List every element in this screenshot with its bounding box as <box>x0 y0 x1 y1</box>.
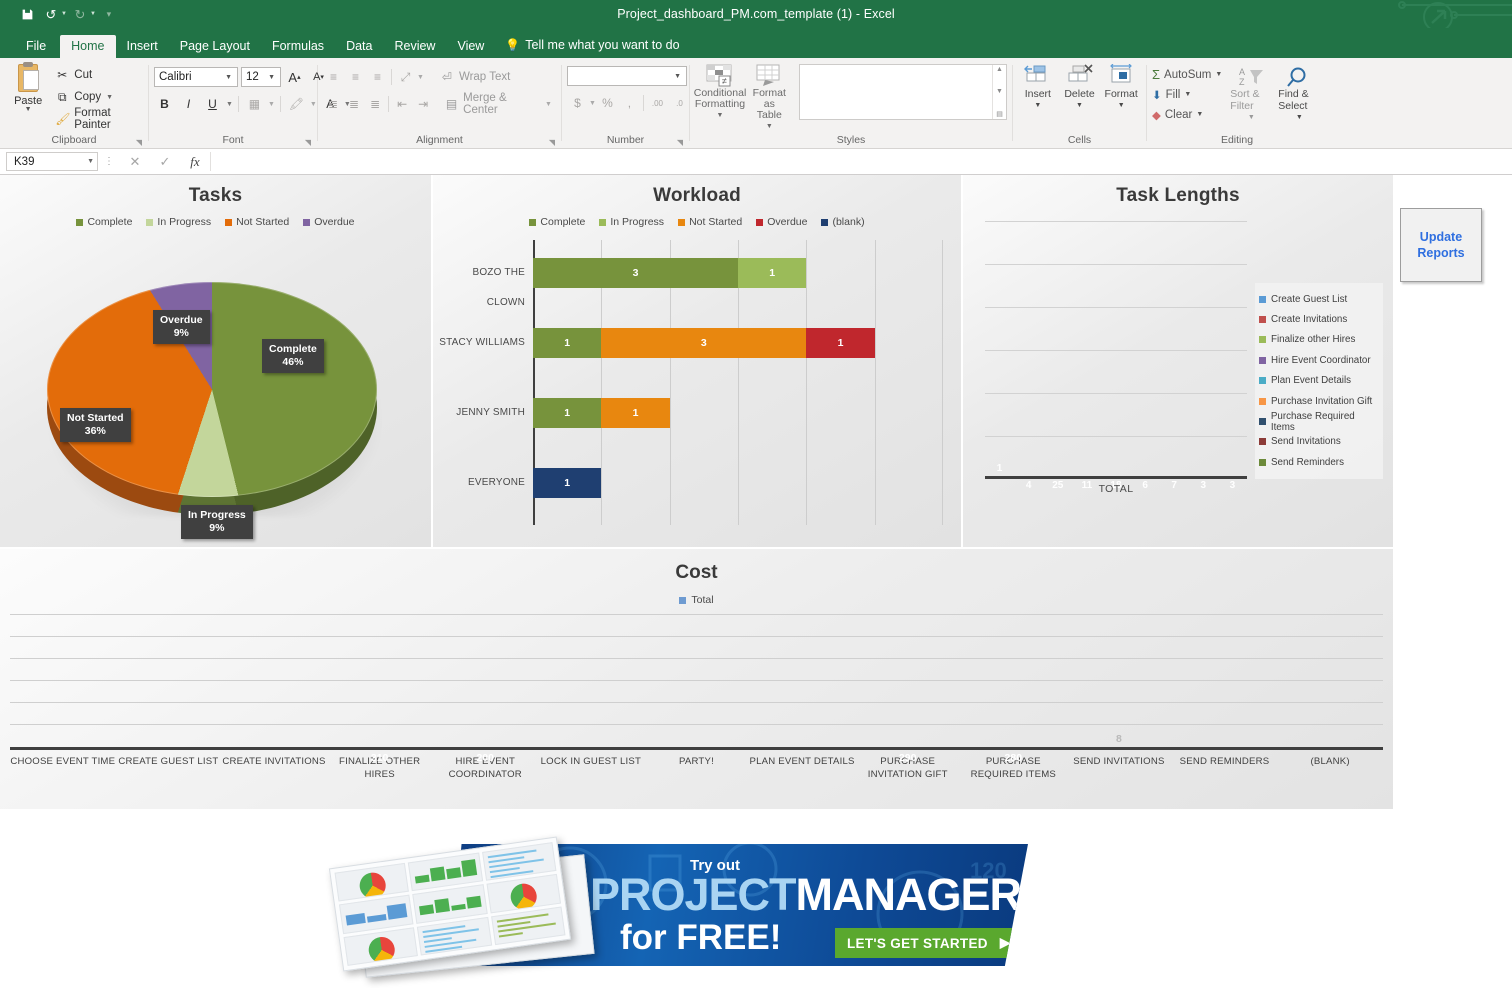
clear-button[interactable]: ◆ Clear ▼ <box>1152 105 1222 124</box>
ad-brand-project: PROJECT <box>590 869 796 920</box>
tasks-legend: Complete In Progress Not Started Overdue <box>0 216 431 228</box>
name-box-value: K39 <box>14 156 34 168</box>
workload-bars: BOZO THE CLOWN 3 1 STACY WILLIAMS 1 3 1 … <box>533 240 943 525</box>
cut-label: Cut <box>74 69 92 81</box>
legend-label: Plan Event Details <box>1271 375 1351 386</box>
font-name-input[interactable]: Calibri ▼ <box>154 67 238 87</box>
legend-item-purchase-required-items: Purchase Required Items <box>1259 411 1379 431</box>
task-lengths-axis <box>985 476 1247 479</box>
workload-segment-blank: 1 <box>533 468 601 498</box>
legend-item-not-started: Not Started <box>225 216 289 228</box>
eraser-icon: ◆ <box>1152 108 1161 122</box>
legend-item-create-guest-list: Create Guest List <box>1259 289 1379 309</box>
underline-button[interactable]: U <box>202 94 223 114</box>
cell-styles-scrollbar[interactable]: ▲ ▼ ▤ <box>992 65 1006 119</box>
workload-segment-in-progress: 1 <box>738 258 806 288</box>
workload-row[interactable]: EVERYONE 1 <box>533 468 943 498</box>
legend-label: Not Started <box>236 216 289 228</box>
tasks-chart-title: Tasks <box>0 175 431 207</box>
sort-filter-label: Sort & Filter <box>1230 88 1272 112</box>
formula-input[interactable] <box>210 152 1512 171</box>
group-label-clipboard: Clipboard <box>0 132 148 148</box>
segment-value: 3 <box>701 337 707 349</box>
ribbon-group-editing: Σ AutoSum ▼ ⬇ Fill ▼ ◆ Clear ▼ <box>1147 58 1327 148</box>
insert-caret-icon[interactable]: ▼ <box>1034 100 1041 112</box>
workload-segment-complete: 1 <box>533 398 601 428</box>
wrap-text-label: Wrap Text <box>459 71 510 83</box>
merge-center-label: Merge & Center <box>463 92 540 116</box>
projectmanager-ad-banner[interactable]: 90 120 50 80 Try out PROJECTMANAGER for … <box>330 834 1030 979</box>
conditional-formatting-button[interactable]: ≠ Conditional Formatting ▼ <box>700 64 740 121</box>
legend-label: Purchase Invitation Gift <box>1271 396 1372 407</box>
workload-segment-not-started: 1 <box>601 398 669 428</box>
pie-label-overdue: Overdue 9% <box>153 310 210 344</box>
ribbon-group-styles: ≠ Conditional Formatting ▼ Format as Tab… <box>690 58 1012 148</box>
ribbon-group-cells: Insert ▼ Delete ▼ Format ▼ <box>1013 58 1146 148</box>
merge-center-button[interactable]: ▤ Merge & Center ▼ <box>441 94 556 114</box>
sheet-right-area: Update Reports <box>1393 175 1512 547</box>
workload-legend: Complete In Progress Not Started Overdue… <box>433 216 961 228</box>
workload-row[interactable]: BOZO THE CLOWN 3 1 <box>533 258 943 288</box>
legend-label: In Progress <box>157 216 211 228</box>
task-lengths-chart-title: Task Lengths <box>963 175 1393 207</box>
delete-cells-label: Delete <box>1064 88 1094 100</box>
currency-caret-icon[interactable]: ▼ <box>589 100 596 107</box>
align-middle-icon[interactable]: ≡ <box>345 67 366 87</box>
font-size-caret-icon[interactable]: ▼ <box>265 74 278 81</box>
group-label-editing: Editing <box>1147 132 1327 148</box>
segment-value: 1 <box>838 337 844 349</box>
paste-caret-icon[interactable]: ▼ <box>25 107 32 113</box>
tell-me-label: Tell me what you want to do <box>525 38 679 52</box>
legend-label: Create Invitations <box>1271 314 1347 325</box>
copy-icon: ⧉ <box>55 90 69 105</box>
conditional-formatting-caret-icon[interactable]: ▼ <box>717 110 724 121</box>
format-cells-label: Format <box>1105 88 1138 100</box>
ad-mini-chart <box>417 917 492 956</box>
bold-button[interactable]: B <box>154 94 175 114</box>
legend-item-not-started: Not Started <box>678 216 742 228</box>
pie-label-value: 46% <box>269 356 317 369</box>
fill-caret-icon[interactable]: ▼ <box>1184 91 1191 98</box>
legend-item-overdue: Overdue <box>756 216 807 228</box>
cost-category-label: (BLANK) <box>1277 750 1383 781</box>
font-dialog-launcher-icon[interactable]: ◥ <box>305 138 311 147</box>
workload-segment-complete: 3 <box>533 258 738 288</box>
increase-decimal-icon[interactable]: .00 <box>647 93 668 113</box>
magnifier-icon <box>1285 66 1313 88</box>
delete-cells-icon <box>1065 64 1095 88</box>
svg-text:A: A <box>1239 67 1245 77</box>
legend-label: Purchase Required Items <box>1271 411 1379 433</box>
orientation-caret-icon[interactable]: ▼ <box>417 74 424 81</box>
font-name-value: Calibri <box>159 71 192 83</box>
orientation-icon[interactable]: ⤢ <box>395 67 416 87</box>
scroll-down-icon[interactable]: ▼ <box>996 88 1003 95</box>
format-as-table-caret-icon[interactable]: ▼ <box>766 121 773 132</box>
group-label-cells: Cells <box>1013 132 1146 148</box>
tab-home[interactable]: Home <box>60 35 115 59</box>
legend-item-create-invitations: Create Invitations <box>1259 309 1379 329</box>
cost-category-label: LOCK IN GUEST LIST <box>538 750 644 781</box>
sort-filter-button[interactable]: AZ Sort & Filter ▼ <box>1230 66 1272 124</box>
underline-label: U <box>208 97 217 111</box>
group-label-font: Font <box>149 132 317 148</box>
format-caret-icon[interactable]: ▼ <box>1118 100 1125 112</box>
legend-item-overdue: Overdue <box>303 216 354 228</box>
bar-value: 1 <box>997 463 1003 474</box>
workload-category-label: BOZO THE CLOWN <box>437 258 533 318</box>
update-reports-label-line1: Update <box>1417 229 1464 245</box>
cell-styles-gallery[interactable]: ▲ ▼ ▤ <box>799 64 1007 120</box>
cost-axis <box>10 747 1383 750</box>
number-format-caret-icon[interactable]: ▼ <box>671 73 684 80</box>
legend-label: Not Started <box>689 216 742 228</box>
fill-down-icon: ⬇ <box>1152 88 1162 102</box>
sort-filter-caret-icon[interactable]: ▼ <box>1248 112 1255 124</box>
pie-label-in-progress: In Progress 9% <box>181 505 253 539</box>
format-cells-icon <box>1106 64 1136 88</box>
autosum-button[interactable]: Σ AutoSum ▼ <box>1152 65 1222 84</box>
paste-icon <box>14 64 42 94</box>
legend-label: In Progress <box>610 216 664 228</box>
formula-bar-grip[interactable]: ⋮ <box>98 156 120 167</box>
segment-value: 1 <box>564 407 570 419</box>
wrap-text-button[interactable]: ⏎ Wrap Text <box>436 67 514 87</box>
segment-value: 1 <box>769 267 775 279</box>
legend-label: Hire Event Coordinator <box>1271 355 1371 366</box>
bar-value: 310 <box>371 752 389 764</box>
pie-label-name: Complete <box>269 343 317 356</box>
format-as-table-label: Format as Table <box>750 88 789 121</box>
workload-chart-title: Workload <box>433 175 961 207</box>
legend-item-blank: (blank) <box>821 216 864 228</box>
pie-label-name: Not Started <box>67 412 124 425</box>
ribbon-group-alignment: ≡ ≡ ≡ ⤢ ▼ ⏎ Wrap Text ≣ ≣ ≣ ⇤ ⇥ <box>318 58 561 148</box>
font-size-value: 12 <box>246 71 259 83</box>
ribbon-group-clipboard: Paste ▼ ✂ Cut ⧉ Copy ▼ 🖌 Format Painter <box>0 58 148 148</box>
legend-item-complete: Complete <box>76 216 132 228</box>
cost-bars: 310 200 290 280 8 <box>10 614 1383 747</box>
legend-label: Complete <box>87 216 132 228</box>
chart-cost[interactable]: Cost Total 310 200 290 280 8 <box>0 547 1393 809</box>
alignment-dialog-launcher-icon[interactable]: ◥ <box>549 138 555 147</box>
insert-cells-label: Insert <box>1025 88 1051 100</box>
pie-label-complete: Complete 46% <box>262 339 324 373</box>
ad-cta-label: LET'S GET STARTED <box>847 936 988 951</box>
clipboard-dialog-launcher-icon[interactable]: ◥ <box>136 138 142 147</box>
font-size-input[interactable]: 12 ▼ <box>241 67 281 87</box>
tab-page-layout[interactable]: Page Layout <box>169 35 261 59</box>
pie-label-name: In Progress <box>188 509 246 522</box>
ribbon-tab-bar[interactable]: File Home Insert Page Layout Formulas Da… <box>0 28 1512 58</box>
format-as-table-button[interactable]: Format as Table ▼ <box>750 64 789 132</box>
legend-item-finalize-other-hires: Finalize other Hires <box>1259 330 1379 350</box>
copy-label: Copy <box>74 91 101 103</box>
delete-caret-icon[interactable]: ▼ <box>1076 100 1083 112</box>
pie-label-name: Overdue <box>160 314 203 327</box>
currency-label: $ <box>574 96 581 110</box>
legend-label: Create Guest List <box>1271 294 1347 305</box>
segment-value: 1 <box>633 407 639 419</box>
insert-cells-button[interactable]: Insert ▼ <box>1018 64 1058 112</box>
insert-cells-icon <box>1023 64 1053 88</box>
ribbon-group-number: ▼ $ ▼ % , .00 .0 Number ◥ <box>562 58 689 148</box>
comma-label: , <box>628 96 631 110</box>
format-cells-button[interactable]: Format ▼ <box>1101 64 1141 112</box>
tab-review[interactable]: Review <box>383 35 446 59</box>
svg-text:Z: Z <box>1239 77 1245 87</box>
clear-caret-icon[interactable]: ▼ <box>1196 111 1203 118</box>
cost-plot: 310 200 290 280 8 <box>10 614 1383 750</box>
legend-label: (blank) <box>832 216 864 228</box>
comma-format-icon[interactable]: , <box>619 93 640 113</box>
italic-button[interactable]: I <box>178 94 199 114</box>
merge-caret-icon[interactable]: ▼ <box>545 101 552 108</box>
workload-segment-complete: 1 <box>533 328 601 358</box>
percent-format-icon[interactable]: % <box>597 93 618 113</box>
tab-formulas[interactable]: Formulas <box>261 35 335 59</box>
svg-text:≠: ≠ <box>722 76 727 86</box>
align-center-icon[interactable]: ≣ <box>344 94 364 114</box>
cost-category-label: CHOOSE EVENT TIME <box>10 750 116 781</box>
find-select-button[interactable]: Find & Select ▼ <box>1278 66 1320 124</box>
group-label-number: Number <box>562 132 689 148</box>
legend-item-complete: Complete <box>529 216 585 228</box>
ad-cta-arrow-icon: ▶ <box>1000 935 1011 951</box>
delete-cells-button[interactable]: Delete ▼ <box>1060 64 1100 112</box>
cost-category-label: PLAN EVENT DETAILS <box>749 750 855 781</box>
ad-for-free-text: for FREE! <box>620 920 781 955</box>
ribbon-group-font: Calibri ▼ 12 ▼ A▴ A▾ B I U ▼ ▦ ▼ 🖍 <box>149 58 317 148</box>
cost-category-label: PARTY! <box>644 750 750 781</box>
paintbrush-icon: 🖌 <box>55 112 69 126</box>
find-select-caret-icon[interactable]: ▼ <box>1296 112 1303 124</box>
tab-file[interactable]: File <box>12 35 60 59</box>
window-title: Project_dashboard_PM.com_template (1) - … <box>0 7 1512 21</box>
legend-item-plan-event-details: Plan Event Details <box>1259 371 1379 391</box>
italic-label: I <box>187 97 190 111</box>
legend-item-send-reminders: Send Reminders <box>1259 452 1379 472</box>
pie-label-value: 9% <box>188 522 246 535</box>
segment-value: 3 <box>633 267 639 279</box>
increase-indent-icon[interactable]: ⇥ <box>413 94 433 114</box>
find-select-label: Find & Select <box>1278 88 1320 112</box>
pie-3d-top <box>47 282 377 497</box>
workload-plot: BOZO THE CLOWN 3 1 STACY WILLIAMS 1 3 1 … <box>533 240 943 525</box>
pie-label-value: 9% <box>160 327 203 340</box>
task-lengths-legend: Create Guest List Create Invitations Fin… <box>1255 283 1383 479</box>
workload-segment-not-started: 3 <box>601 328 806 358</box>
group-label-styles: Styles <box>690 132 1012 148</box>
merge-cells-icon: ▤ <box>445 97 458 111</box>
legend-label: Send Reminders <box>1271 457 1344 468</box>
title-bar: ↺ ▼ ↻ ▼ ▾ Project_dashboard_PM.com_templ… <box>0 0 1512 28</box>
cost-category-axis: CHOOSE EVENT TIME CREATE GUEST LIST CREA… <box>10 750 1383 781</box>
workload-category-label: EVERYONE <box>437 468 533 498</box>
legend-item-purchase-invitation-gift: Purchase Invitation Gift <box>1259 391 1379 411</box>
customize-qat-icon[interactable]: ▾ <box>98 4 120 24</box>
bar-value: 8 <box>1116 733 1122 745</box>
legend-item-in-progress: In Progress <box>599 216 664 228</box>
decrease-indent-icon[interactable]: ⇤ <box>392 94 412 114</box>
fill-color-caret-icon[interactable]: ▼ <box>310 101 317 108</box>
legend-item-hire-event-coordinator: Hire Event Coordinator <box>1259 350 1379 370</box>
bar-value: 290 <box>899 752 917 764</box>
tell-me-box[interactable]: 💡 Tell me what you want to do <box>495 33 689 58</box>
update-reports-label-line2: Reports <box>1417 245 1464 261</box>
paste-button[interactable]: Paste ▼ <box>5 62 51 113</box>
number-format-select[interactable]: ▼ <box>567 66 687 86</box>
legend-label-total: Total <box>691 594 713 606</box>
clear-label: Clear <box>1165 109 1192 121</box>
tab-data[interactable]: Data <box>335 35 383 59</box>
borders-caret-icon[interactable]: ▼ <box>268 101 275 108</box>
redo-icon: ↻ <box>69 4 91 24</box>
conditional-formatting-label: Conditional Formatting <box>694 88 747 110</box>
tab-view[interactable]: View <box>446 35 495 59</box>
legend-label: Overdue <box>767 216 807 228</box>
fill-color-icon[interactable]: 🖍 <box>286 94 307 114</box>
fill-button[interactable]: ⬇ Fill ▼ <box>1152 85 1222 104</box>
cost-category-label: CREATE INVITATIONS <box>221 750 327 781</box>
workload-row[interactable]: JENNY SMITH 1 1 <box>533 398 943 428</box>
lightbulb-icon: 💡 <box>505 38 520 52</box>
borders-icon[interactable]: ▦ <box>244 94 265 114</box>
cut-button[interactable]: ✂ Cut <box>51 65 143 85</box>
insert-function-icon[interactable]: fx <box>180 154 210 170</box>
wrap-text-icon: ⏎ <box>440 70 454 84</box>
quick-access-toolbar[interactable]: ↺ ▼ ↻ ▼ ▾ <box>0 4 120 24</box>
workload-category-label: STACY WILLIAMS <box>437 328 533 358</box>
copy-caret-icon[interactable]: ▼ <box>106 94 113 101</box>
legend-label: Complete <box>540 216 585 228</box>
cost-category-label: SEND INVITATIONS <box>1066 750 1172 781</box>
workload-row[interactable]: STACY WILLIAMS 1 3 1 <box>533 328 943 358</box>
formula-bar: K39 ▼ ⋮ ✕ ✓ fx <box>0 149 1512 175</box>
legend-item-in-progress: In Progress <box>146 216 211 228</box>
number-dialog-launcher-icon[interactable]: ◥ <box>677 138 683 147</box>
ad-brand: PROJECTMANAGER <box>590 872 1021 917</box>
task-lengths-bars: 1 4 25 11 18 6 7 3 3 <box>985 221 1247 476</box>
align-right-icon[interactable]: ≣ <box>365 94 385 114</box>
chart-tasks[interactable]: Tasks Complete In Progress Not Started O… <box>0 175 433 547</box>
ad-cta-button[interactable]: LET'S GET STARTED ▶ <box>835 928 1023 958</box>
undo-icon[interactable]: ↺ <box>40 4 62 24</box>
workload-segment-overdue: 1 <box>806 328 874 358</box>
align-bottom-icon[interactable]: ≡ <box>367 67 388 87</box>
task-lengths-plot: 1 4 25 11 18 6 7 3 3 TOTAL <box>985 221 1247 479</box>
cost-category-label: SEND REMINDERS <box>1172 750 1278 781</box>
update-reports-button[interactable]: Update Reports <box>1400 208 1482 282</box>
currency-format-icon[interactable]: $ <box>567 93 588 113</box>
copy-button[interactable]: ⧉ Copy ▼ <box>51 87 143 107</box>
legend-label: Send Invitations <box>1271 436 1341 447</box>
enter-formula-icon[interactable]: ✓ <box>150 154 180 170</box>
increase-font-size-icon[interactable]: A▴ <box>284 67 305 87</box>
bold-label: B <box>160 97 169 111</box>
group-label-alignment: Alignment <box>318 132 561 148</box>
tab-insert[interactable]: Insert <box>116 35 169 59</box>
decrease-decimal-icon[interactable]: .0 <box>669 93 690 113</box>
cancel-formula-icon[interactable]: ✕ <box>120 154 150 170</box>
align-top-icon[interactable]: ≡ <box>323 67 344 87</box>
scroll-up-icon[interactable]: ▲ <box>996 66 1003 73</box>
name-box[interactable]: K39 ▼ <box>6 152 98 171</box>
cost-chart-title: Cost <box>0 549 1393 584</box>
legend-item-send-invitations: Send Invitations <box>1259 432 1379 452</box>
fill-label: Fill <box>1166 89 1181 101</box>
cost-category-label: CREATE GUEST LIST <box>116 750 222 781</box>
bar-value: 280 <box>1005 752 1023 764</box>
save-icon[interactable] <box>16 4 38 24</box>
ribbon: Paste ▼ ✂ Cut ⧉ Copy ▼ 🖌 Format Painter <box>0 58 1512 149</box>
redo-caret-icon: ▼ <box>90 11 96 17</box>
autosum-label: AutoSum <box>1164 69 1211 81</box>
title-decoration <box>1392 0 1512 28</box>
scroll-more-icon[interactable]: ▤ <box>996 110 1003 118</box>
pie-label-not-started: Not Started 36% <box>60 408 131 442</box>
ad-mini-chart <box>344 927 419 966</box>
sort-filter-icon: AZ <box>1237 66 1265 88</box>
chart-workload[interactable]: Workload Complete In Progress Not Starte… <box>433 175 963 547</box>
format-as-table-icon <box>754 64 784 88</box>
underline-caret-icon[interactable]: ▼ <box>226 101 233 108</box>
format-painter-button[interactable]: 🖌 Format Painter <box>51 109 143 129</box>
font-name-caret-icon[interactable]: ▼ <box>222 74 235 81</box>
legend-label: Overdue <box>314 216 354 228</box>
cost-legend: Total <box>0 594 1393 606</box>
percent-label: % <box>602 96 613 110</box>
ad-brand-manager: MANAGER <box>796 869 1022 920</box>
charts-row: Tasks Complete In Progress Not Started O… <box>0 175 1512 547</box>
pie-label-value: 36% <box>67 425 124 438</box>
name-box-caret-icon[interactable]: ▼ <box>87 158 94 165</box>
sigma-icon: Σ <box>1152 67 1160 82</box>
autosum-caret-icon[interactable]: ▼ <box>1215 71 1222 78</box>
align-left-icon[interactable]: ≣ <box>323 94 343 114</box>
format-painter-label: Format Painter <box>74 107 139 131</box>
segment-value: 1 <box>564 477 570 489</box>
task-lengths-x-label: TOTAL <box>985 483 1247 495</box>
legend-label: Finalize other Hires <box>1271 334 1355 345</box>
ad-mini-chart <box>491 906 566 945</box>
chart-task-lengths[interactable]: Task Lengths 1 4 25 11 18 6 7 <box>963 175 1393 547</box>
conditional-formatting-icon: ≠ <box>705 64 735 88</box>
workload-category-label: JENNY SMITH <box>437 398 533 428</box>
segment-value: 1 <box>564 337 570 349</box>
bar-value: 200 <box>476 752 494 764</box>
tasks-pie-plot: Complete 46% In Progress 9% Not Started … <box>0 228 431 520</box>
undo-caret-icon[interactable]: ▼ <box>61 11 67 17</box>
scissors-icon: ✂ <box>55 68 69 82</box>
